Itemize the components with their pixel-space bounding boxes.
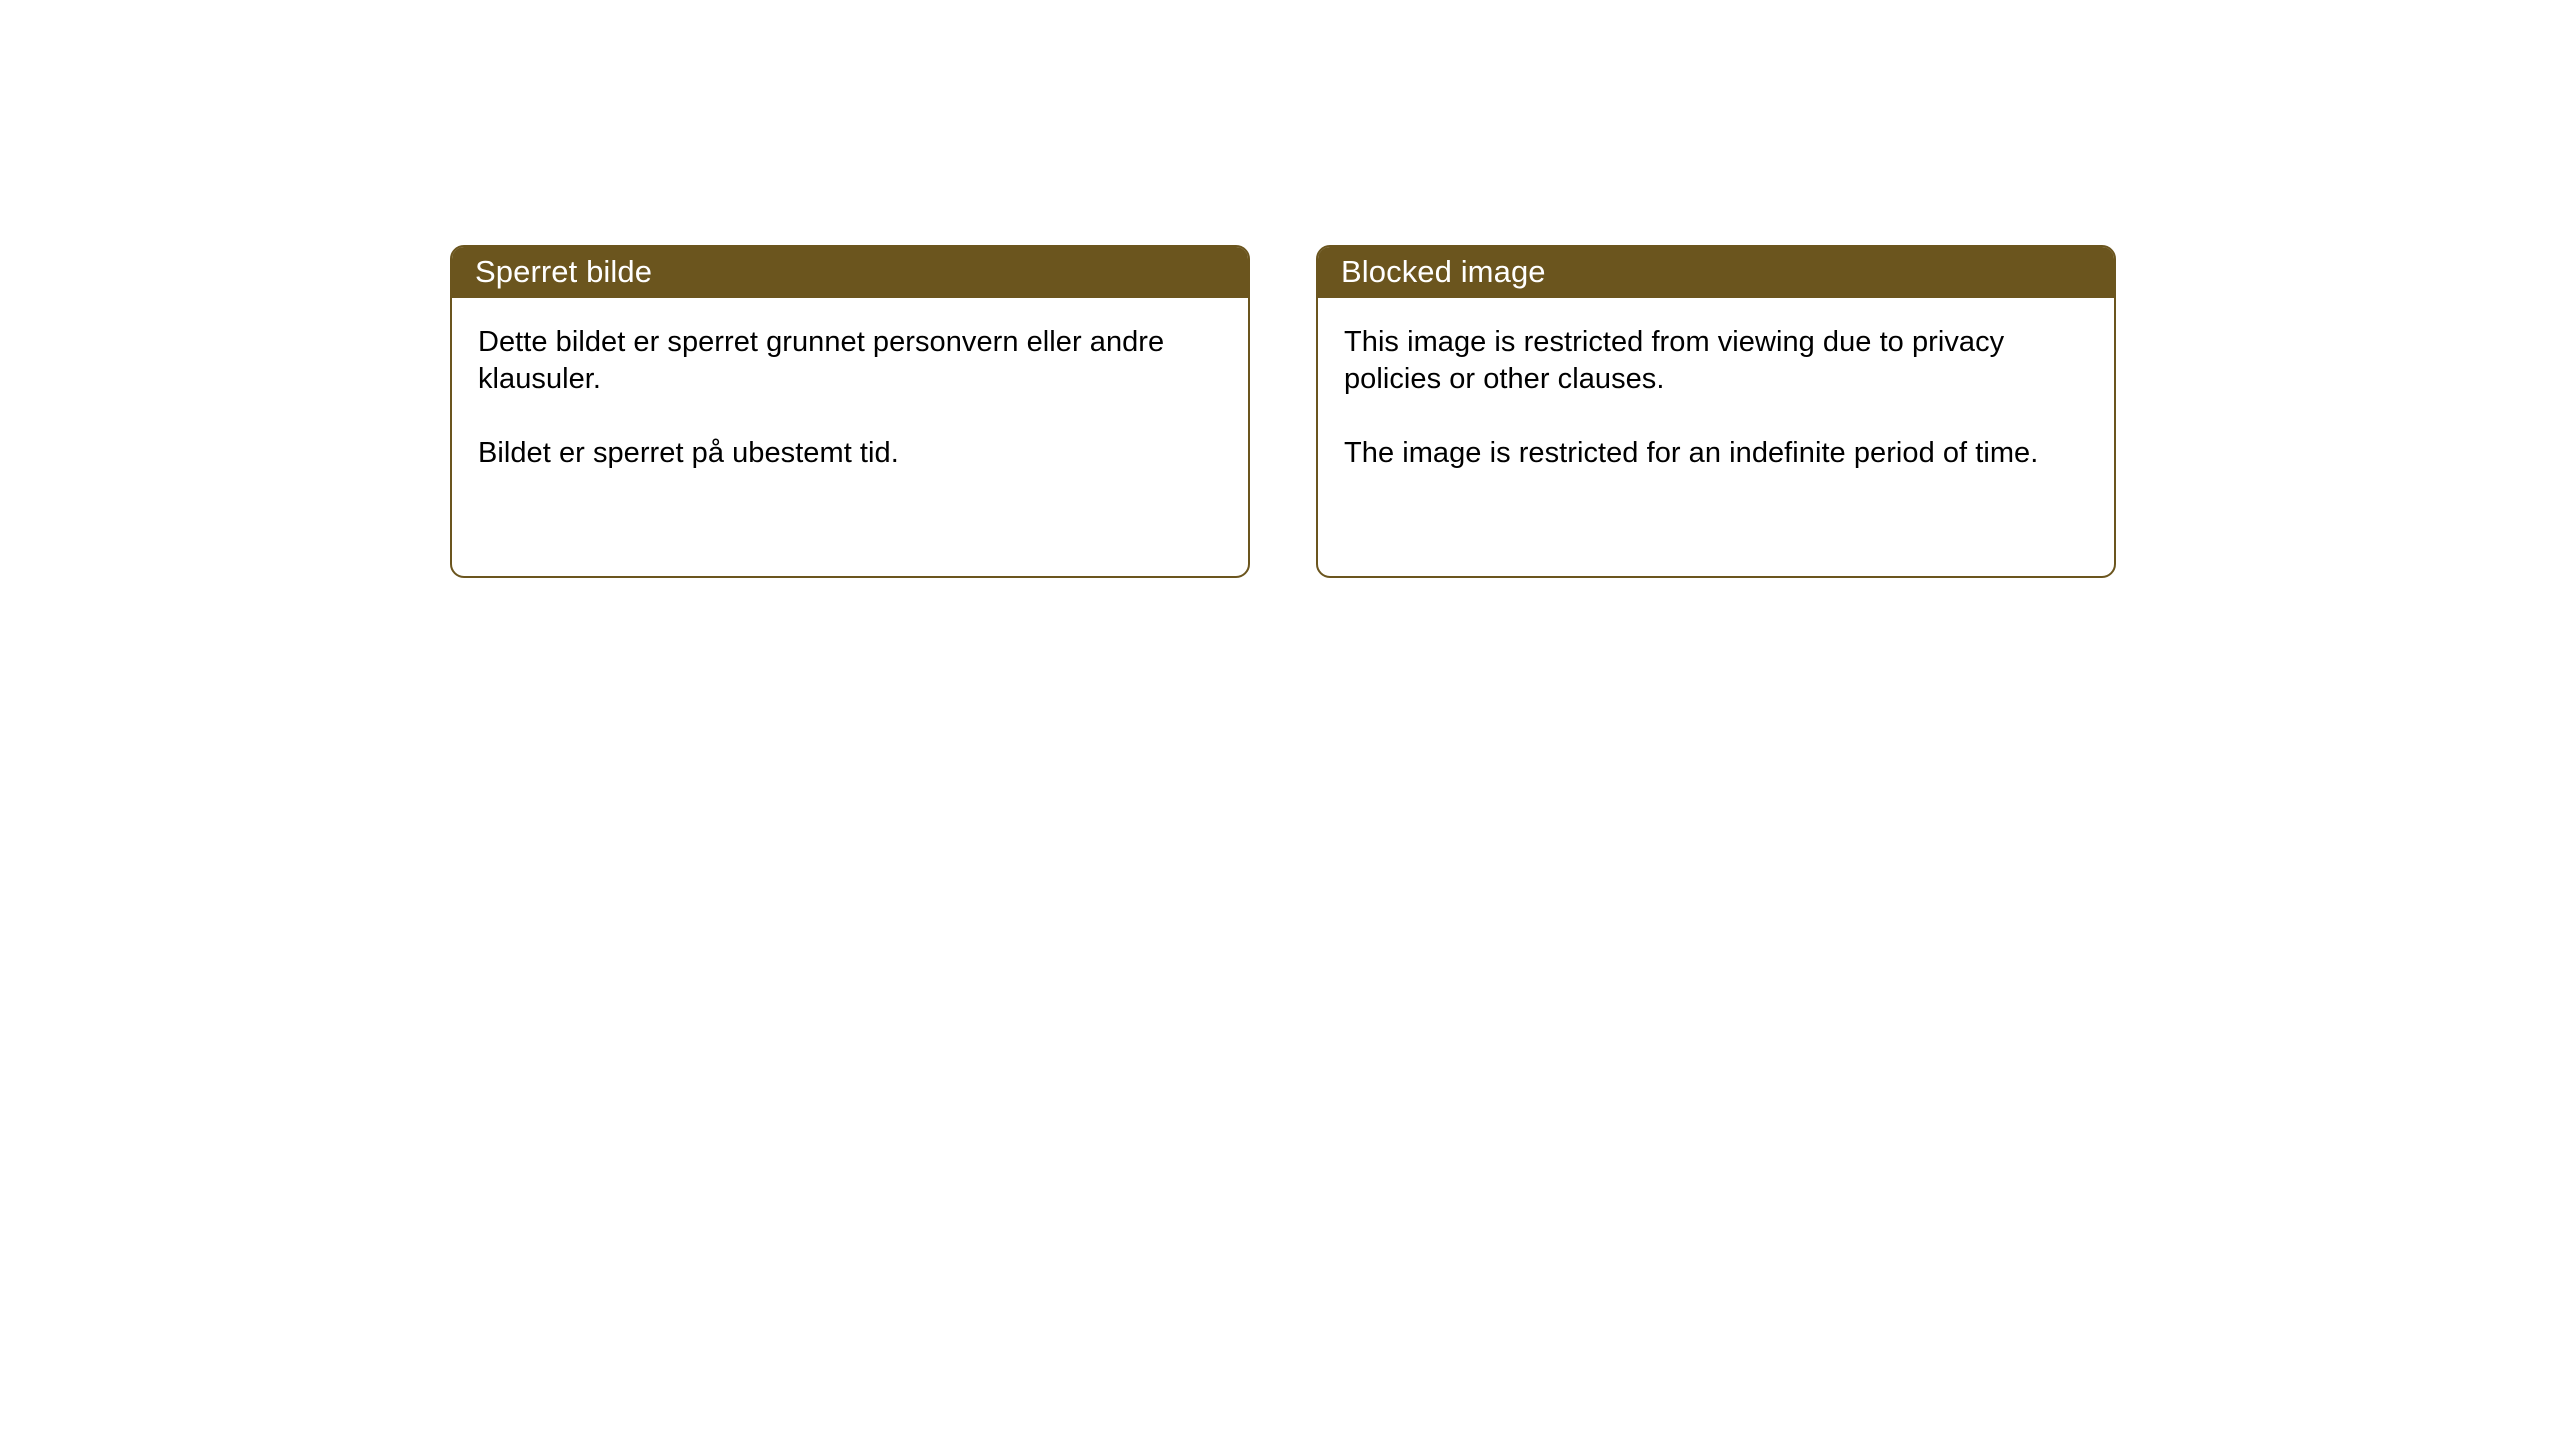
card-body-english: This image is restricted from viewing du… xyxy=(1318,298,2114,472)
blocked-image-notices: Sperret bilde Dette bildet er sperret gr… xyxy=(450,245,2112,580)
card-paragraph-duration-norwegian: Bildet er sperret på ubestemt tid. xyxy=(478,435,1222,472)
card-title-english: Blocked image xyxy=(1341,255,1546,288)
card-header-norwegian: Sperret bilde xyxy=(450,245,1250,298)
card-header-english: Blocked image xyxy=(1316,245,2116,298)
card-paragraph-duration-english: The image is restricted for an indefinit… xyxy=(1344,435,2088,472)
blocked-image-card-norwegian: Sperret bilde Dette bildet er sperret gr… xyxy=(450,245,1250,578)
card-body-norwegian: Dette bildet er sperret grunnet personve… xyxy=(452,298,1248,472)
card-paragraph-reason-english: This image is restricted from viewing du… xyxy=(1344,324,2088,398)
card-title-norwegian: Sperret bilde xyxy=(475,255,652,288)
card-paragraph-reason-norwegian: Dette bildet er sperret grunnet personve… xyxy=(478,324,1222,398)
blocked-image-card-english: Blocked image This image is restricted f… xyxy=(1316,245,2116,578)
